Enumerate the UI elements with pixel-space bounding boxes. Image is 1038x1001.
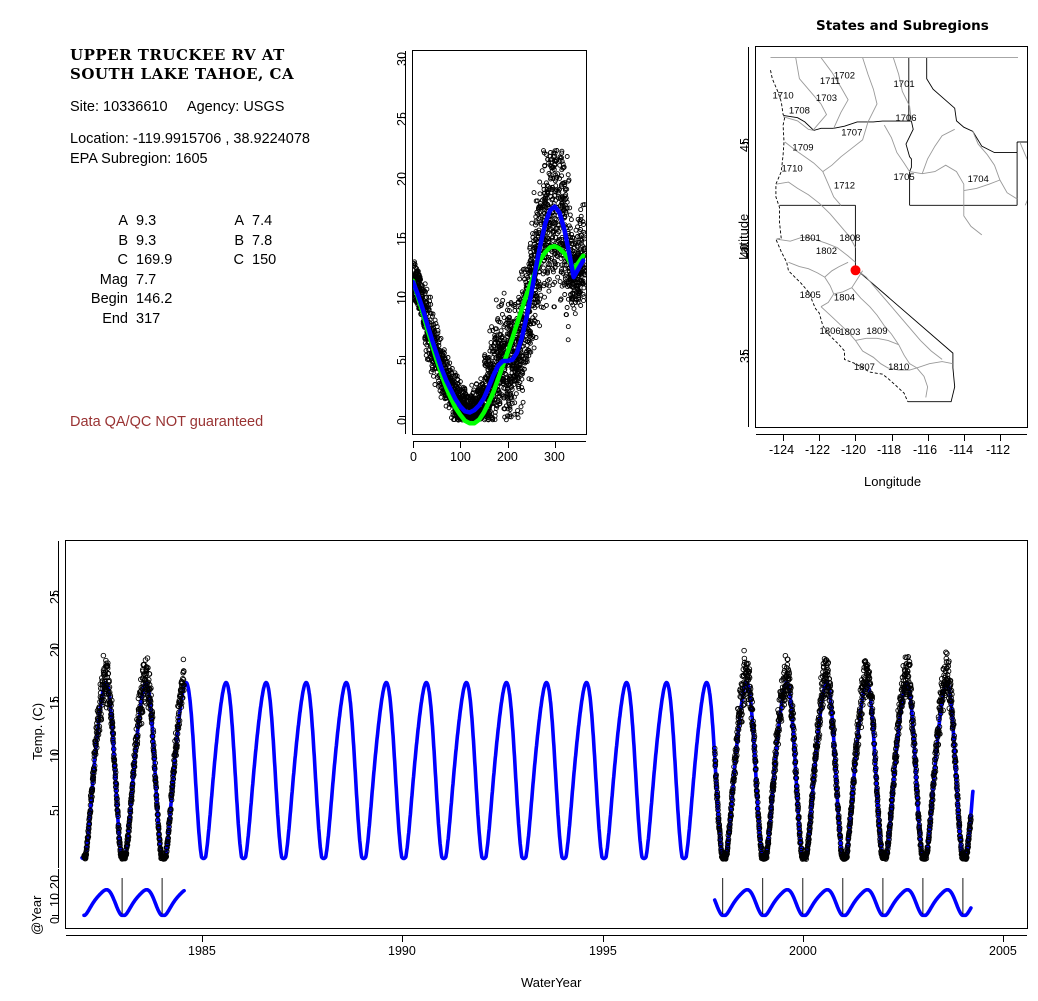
subregion-label-1709-8: 1709 [792, 142, 813, 153]
coef-value-c1: 169.9 [136, 251, 198, 271]
subregion-boundary-15 [964, 205, 982, 235]
subregion-boundary-2 [863, 58, 877, 122]
coef-value-mag: 7.7 [136, 271, 198, 291]
subregion-boundary-10 [910, 165, 964, 205]
ts-sub-tick-label: 10 [48, 893, 62, 907]
coef-value-b1: 9.3 [136, 232, 198, 252]
station-name-line2: SOUTH LAKE TAHOE, CA [70, 65, 400, 84]
ts-sub-tick-label: 0 [48, 917, 62, 924]
subregion-boundary-9 [884, 125, 909, 172]
site-marker-icon [851, 265, 861, 275]
coef-label-begin: Begin [70, 290, 136, 310]
ts-x-tick-label: 2005 [989, 944, 1017, 958]
qaqc-warning: Data QA/QC NOT guaranteed [70, 414, 263, 430]
map-x-tick-label: -122 [805, 443, 830, 457]
station-name-line1: UPPER TRUCKEE RV AT [70, 46, 400, 65]
coef-value-c2: 150 [252, 251, 276, 271]
scatter-x-tick [413, 441, 414, 448]
model-coefficient-table: A 9.3 A 7.4 B 9.3 B 7.8 C 169.9 C 150 Ma… [70, 212, 320, 329]
map-x-tick-label: -112 [986, 443, 1010, 457]
map-title: States and Subregions [816, 18, 989, 34]
subregion-label-1803-19: 1803 [839, 327, 860, 338]
ts-x-tick [402, 935, 403, 942]
subregion-label-1802-15: 1802 [816, 246, 837, 257]
coef-value-begin: 146.2 [136, 290, 198, 310]
site-agency-line: Site: 10336610 Agency: USGS [70, 98, 400, 116]
map-y-tick-label: 35 [738, 349, 752, 363]
map-x-tick [892, 434, 893, 441]
scatter-x-tick-label: 0 [410, 450, 417, 464]
coef-value-end: 317 [136, 310, 198, 330]
map-x-tick [819, 434, 820, 441]
scatter-y-tick [399, 416, 406, 417]
ts-x-axis-line [66, 935, 1027, 936]
map-x-tick-label: -116 [913, 443, 937, 457]
subregion-boundary-11 [922, 129, 955, 173]
coef-value-a1: 9.3 [136, 212, 198, 232]
subregion-boundary-19 [821, 277, 834, 307]
epa-subregion-line: EPA Subregion: 1605 [70, 150, 400, 168]
scatter-y-tick-label: 25 [395, 112, 409, 126]
subregion-label-1705-10: 1705 [894, 172, 915, 183]
table-row: Begin 146.2 [70, 290, 276, 310]
map-x-tick [964, 434, 965, 441]
subregion-label-1805-16: 1805 [800, 290, 821, 301]
scatter-y-tick-label: 5 [395, 358, 409, 365]
ts-x-tick-label: 1995 [589, 944, 617, 958]
map-x-tick [855, 434, 856, 441]
subregion-label-1702-3: 1702 [834, 71, 855, 82]
ts-sub-tick-label: 20 [48, 875, 62, 889]
temperature-time-series-plot [65, 540, 1028, 929]
scatter-y-tick [399, 356, 406, 357]
ts-y-tick-label: 5 [48, 809, 62, 816]
scatter-y-tick-label: 20 [395, 172, 409, 186]
subregion-boundary-4 [783, 117, 814, 131]
coef-label-b1: B [70, 232, 136, 252]
year-amplitude-trace-0 [84, 890, 184, 916]
ts-x-tick-label: 1985 [188, 944, 216, 958]
subregion-label-1710-9: 1710 [782, 164, 803, 175]
map-x-tick [928, 434, 929, 441]
coef-label-c2: C [198, 251, 252, 271]
time-series-y-axis-title: Temp. (C) [30, 703, 45, 760]
subregion-label-1712-12: 1712 [834, 180, 855, 191]
subregion-boundary-8 [776, 182, 819, 203]
subregion-label-1807-21: 1807 [854, 362, 875, 373]
subregion-label-1703-4: 1703 [816, 93, 837, 104]
ts-x-tick-label: 2000 [789, 944, 817, 958]
map-y-tick-label: 45 [738, 138, 752, 152]
subregion-boundary-28 [917, 362, 953, 368]
subregion-label-1701-5: 1701 [894, 79, 915, 90]
map-x-tick-label: -118 [877, 443, 901, 457]
table-row: C 169.9 C 150 [70, 251, 276, 271]
map-x-tick [1000, 434, 1001, 441]
ts-x-tick [202, 935, 203, 942]
scatter-y-tick-label: 15 [395, 232, 409, 246]
states-subregions-map: 1711171017081702170317011707170617091710… [755, 46, 1028, 428]
scatter-x-tick-label: 300 [544, 450, 565, 464]
subregion-label-1706-7: 1706 [895, 113, 916, 124]
scatter-x-axis-line [413, 441, 586, 442]
scatter-y-tick-label: 30 [395, 52, 409, 66]
ts-y-tick-label: 20 [48, 643, 62, 657]
map-x-axis-title: Longitude [864, 474, 921, 489]
coef-value-a2: 7.4 [252, 212, 276, 232]
time-series-canvas [66, 541, 1027, 928]
scatter-x-tick [460, 441, 461, 448]
ts-x-tick [1003, 935, 1004, 942]
or-id-border [906, 121, 913, 205]
table-row: Mag 7.7 [70, 271, 276, 291]
scatter-x-tick-label: 200 [497, 450, 518, 464]
subregion-label-1808-14: 1808 [839, 233, 860, 244]
subregion-label-1707-6: 1707 [841, 128, 862, 139]
map-x-tick-label: -120 [841, 443, 866, 457]
scatter-x-tick [555, 441, 556, 448]
ts-y-tick-label: 25 [48, 590, 62, 604]
table-row: End 317 [70, 310, 276, 330]
coef-label-a2: A [198, 212, 252, 232]
subregion-label-1710-1: 1710 [773, 91, 794, 102]
map-x-tick-label: -124 [769, 443, 794, 457]
map-x-tick [783, 434, 784, 441]
ts-x-tick [603, 935, 604, 942]
location-line: Location: -119.9915706 , 38.9224078 [70, 130, 400, 148]
ts-y-tick-label: 15 [48, 696, 62, 710]
table-row: B 9.3 B 7.8 [70, 232, 276, 252]
subregion-label-1708-2: 1708 [789, 106, 810, 117]
coef-label-end: End [70, 310, 136, 330]
table-row: A 9.3 A 7.4 [70, 212, 276, 232]
scatter-y-tick-label: 10 [395, 291, 409, 305]
coef-label-a1: A [70, 212, 136, 232]
subregion-boundary-29 [855, 269, 942, 360]
subregion-label-1810-22: 1810 [888, 362, 909, 373]
map-canvas: 1711171017081702170317011707170617091710… [756, 47, 1027, 427]
seasonal-scatter-plot [412, 50, 587, 435]
subregion-boundary-27 [917, 368, 928, 398]
ts-x-tick-label: 1990 [388, 944, 416, 958]
scatter-canvas [413, 51, 586, 434]
scatter-y-tick-label: 0 [395, 418, 409, 425]
subregion-boundary-18 [825, 262, 848, 277]
station-info-panel: UPPER TRUCKEE RV AT SOUTH LAKE TAHOE, CA… [70, 46, 400, 168]
subregion-label-1809-20: 1809 [866, 326, 887, 337]
scatter-x-tick [508, 441, 509, 448]
coef-label-b2: B [198, 232, 252, 252]
subregion-boundary-14 [1020, 142, 1027, 205]
subregion-label-1704-11: 1704 [968, 174, 989, 185]
ts-x-tick [803, 935, 804, 942]
ts-y-tick [52, 806, 59, 807]
ts-sub-tick [52, 915, 59, 916]
coef-label-c1: C [70, 251, 136, 271]
subregion-label-1801-13: 1801 [800, 233, 821, 244]
residual-year-axis-title: @Year [29, 896, 44, 935]
subregion-boundary-23 [855, 338, 898, 344]
map-x-tick-label: -114 [949, 443, 973, 457]
subregion-boundary-21 [852, 288, 885, 326]
coef-label-mag: Mag [70, 271, 136, 291]
subregion-label-1806-18: 1806 [820, 326, 841, 337]
scatter-x-tick-label: 100 [450, 450, 471, 464]
ts-y-tick-label: 10 [48, 749, 62, 763]
time-series-x-axis-title: WaterYear [521, 975, 581, 990]
coef-value-b2: 7.8 [252, 232, 276, 252]
subregion-label-1804-17: 1804 [834, 292, 855, 303]
map-y-axis-title: Latitude [736, 214, 751, 260]
subregion-boundary-17 [789, 262, 825, 277]
